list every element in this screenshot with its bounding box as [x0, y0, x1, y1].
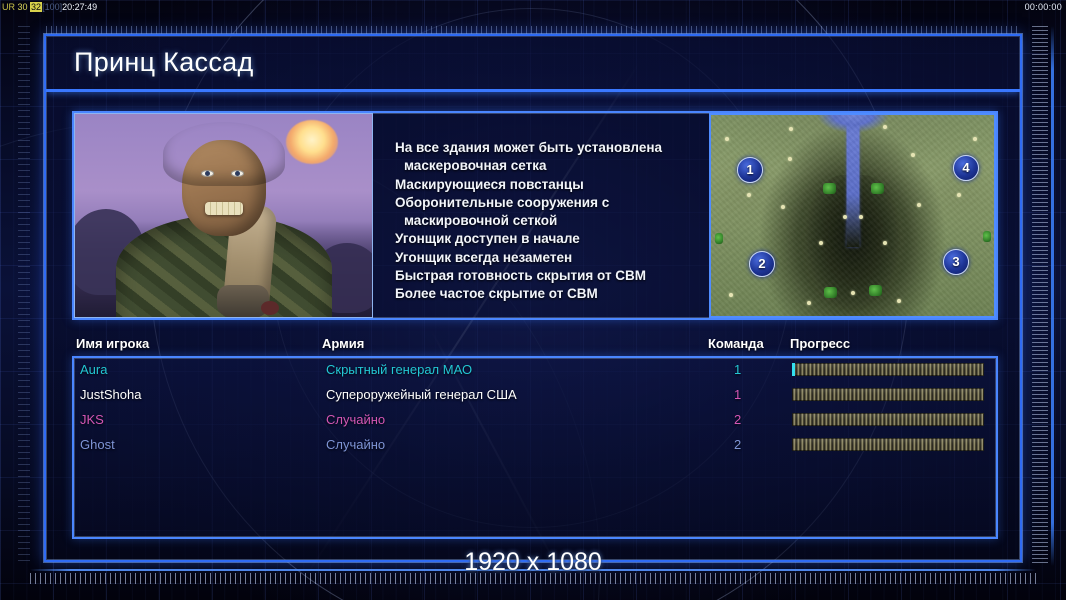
map-resource-marker	[897, 299, 901, 303]
map-resource-marker	[729, 293, 733, 297]
general-portrait	[74, 113, 373, 318]
map-start-position[interactable]: 4	[953, 155, 979, 181]
portrait-eye-left	[201, 170, 214, 177]
player-table-header: Имя игрока Армия Команда Прогресс	[72, 334, 998, 356]
map-tree-cluster	[983, 231, 991, 242]
portrait-teeth	[205, 202, 243, 215]
table-row[interactable]: JKS Случайно 2	[74, 408, 996, 433]
status-clock: 20:27:49	[62, 2, 97, 12]
player-army[interactable]: Случайно	[326, 412, 385, 427]
faction-info-panel: На все здания может быть установлена мас…	[72, 111, 998, 320]
map-resource-marker	[883, 125, 887, 129]
map-tree-cluster	[823, 183, 836, 194]
map-resource-marker	[859, 215, 863, 219]
status-ur-label: UR	[2, 2, 15, 12]
status-bar: UR 30 32[100]20:27:49 00:00:00	[0, 0, 1066, 14]
main-window-panel: Принц Кассад На все здания	[44, 34, 1022, 562]
page-title: Принц Кассад	[74, 47, 254, 78]
description-line: маскеровочная сетка	[395, 157, 701, 175]
map-tree-cluster	[869, 285, 882, 296]
map-resource-marker	[973, 137, 977, 141]
player-army[interactable]: Супероружейный генерал США	[326, 387, 517, 402]
player-name: Aura	[80, 362, 107, 377]
player-name: JKS	[80, 412, 104, 427]
ruler-right	[1032, 26, 1048, 566]
map-resource-marker	[911, 153, 915, 157]
map-texture-overlay	[711, 115, 994, 316]
status-bar-right-clock: 00:00:00	[1025, 0, 1062, 14]
player-progress-bar	[792, 413, 984, 426]
map-resource-marker	[788, 157, 792, 161]
column-header-team: Команда	[708, 336, 764, 351]
map-resource-marker	[807, 301, 811, 305]
map-start-position[interactable]: 2	[749, 251, 775, 277]
player-name: JustShoha	[80, 387, 141, 402]
map-resource-marker	[819, 241, 823, 245]
player-progress-bar	[792, 363, 984, 376]
portrait-eye-right	[231, 170, 244, 177]
player-team[interactable]: 1	[734, 387, 741, 402]
status-value-b: 32	[30, 2, 42, 12]
title-bar: Принц Кассад	[46, 36, 1020, 92]
resolution-label: 1920 x 1080	[0, 548, 1066, 577]
table-row[interactable]: Ghost Случайно 2	[74, 433, 996, 458]
description-line: Оборонительные сооружения с	[395, 194, 701, 212]
column-header-army: Армия	[322, 336, 364, 351]
column-header-progress: Прогресс	[790, 336, 850, 351]
status-value-c: [100]	[42, 2, 62, 12]
status-bar-left: UR 30 32[100]20:27:49	[2, 0, 97, 14]
map-start-position[interactable]: 1	[737, 157, 763, 183]
map-resource-marker	[851, 291, 855, 295]
description-line: Быстрая готовность скрытия от СВМ	[395, 267, 701, 285]
map-tree-cluster	[824, 287, 837, 298]
map-resource-marker	[747, 193, 751, 197]
map-tree-cluster	[715, 233, 723, 244]
map-resource-marker	[917, 203, 921, 207]
description-line: Угонщик доступен в начале	[395, 230, 701, 248]
description-line: Более частое скрытие от СВМ	[395, 285, 701, 303]
map-resource-marker	[789, 127, 793, 131]
map-resource-marker	[843, 215, 847, 219]
description-line: Маскирующиеся повстанцы	[395, 176, 701, 194]
player-team[interactable]: 1	[734, 362, 741, 377]
map-resource-marker	[781, 205, 785, 209]
sun-icon	[286, 120, 338, 164]
status-value-a: 30	[18, 2, 28, 12]
table-row[interactable]: Aura Скрытный генерал МАО 1	[74, 358, 996, 383]
ruler-left	[18, 26, 30, 566]
column-header-player-name: Имя игрока	[76, 336, 149, 351]
faction-description: На все здания может быть установлена мас…	[373, 113, 709, 318]
map-tree-cluster	[871, 183, 884, 194]
portrait-headwrap	[163, 122, 285, 186]
player-name: Ghost	[80, 437, 115, 452]
player-team[interactable]: 2	[734, 437, 741, 452]
description-line: маскировочной сеткой	[395, 212, 701, 230]
player-army[interactable]: Случайно	[326, 437, 385, 452]
map-resource-marker	[883, 241, 887, 245]
table-row[interactable]: JustShoha Супероружейный генерал США 1	[74, 383, 996, 408]
description-line: Угонщик всегда незаметен	[395, 249, 701, 267]
description-line: На все здания может быть установлена	[395, 139, 701, 157]
map-resource-marker	[725, 137, 729, 141]
player-progress-bar	[792, 388, 984, 401]
player-progress-bar	[792, 438, 984, 451]
map-preview[interactable]: 1 4 2 3	[709, 113, 996, 318]
player-team[interactable]: 2	[734, 412, 741, 427]
portrait-teapot	[217, 285, 269, 318]
player-table-body: Aura Скрытный генерал МАО 1 JustShoha Су…	[72, 356, 998, 539]
map-start-position[interactable]: 3	[943, 249, 969, 275]
map-resource-marker	[957, 193, 961, 197]
ruler-top	[46, 26, 1020, 34]
game-lobby-screen: UR 30 32[100]20:27:49 00:00:00 Принц Кас…	[0, 0, 1066, 600]
player-army[interactable]: Скрытный генерал МАО	[326, 362, 472, 377]
